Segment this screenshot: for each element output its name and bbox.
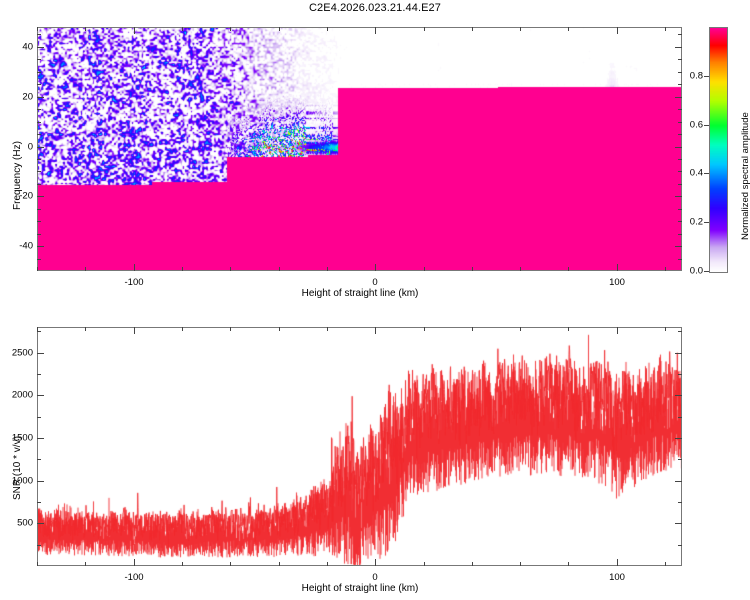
y-tick-label: 20 — [3, 92, 33, 103]
axis-tick — [134, 27, 135, 34]
axis-tick — [37, 545, 41, 546]
colorbar-title: Normalized spectral amplitude — [740, 112, 750, 240]
axis-tick — [472, 27, 473, 31]
x-tick-label: 100 — [609, 572, 625, 583]
axis-tick — [675, 523, 682, 524]
axis-tick — [134, 327, 135, 334]
axis-tick — [230, 267, 231, 271]
axis-tick — [472, 327, 473, 331]
axis-tick — [327, 562, 328, 566]
axis-tick — [375, 327, 376, 334]
axis-tick — [37, 196, 44, 197]
axis-tick — [678, 34, 682, 35]
axis-tick — [85, 327, 86, 331]
axis-tick — [327, 327, 328, 331]
figure-root: C2E4.2026.023.21.44.E27 -1000100-40-2002… — [0, 0, 750, 600]
axis-tick — [678, 459, 682, 460]
axis-tick — [675, 97, 682, 98]
axis-tick — [37, 134, 41, 135]
axis-tick — [678, 331, 682, 332]
y-tick-label: 2000 — [3, 390, 33, 401]
axis-tick — [37, 417, 41, 418]
colorbar-tick — [704, 125, 709, 126]
colorbar-tick-label: 0.6 — [675, 120, 703, 131]
colorbar-tick — [704, 222, 709, 223]
axis-tick — [37, 459, 41, 460]
spectrogram-x-axis-title: Height of straight line (km) — [302, 288, 419, 299]
axis-tick — [37, 395, 44, 396]
axis-tick — [37, 353, 44, 354]
axis-tick — [617, 327, 618, 334]
axis-tick — [665, 27, 666, 31]
axis-tick — [665, 327, 666, 331]
axis-tick — [678, 545, 682, 546]
axis-tick — [182, 27, 183, 31]
axis-tick — [678, 109, 682, 110]
x-tick-label: 0 — [372, 277, 377, 288]
axis-tick — [678, 259, 682, 260]
axis-tick — [37, 259, 41, 260]
axis-tick — [37, 246, 44, 247]
axis-tick — [424, 562, 425, 566]
axis-tick — [678, 417, 682, 418]
axis-tick — [37, 331, 41, 332]
axis-tick — [37, 147, 44, 148]
axis-tick — [37, 84, 41, 85]
axis-tick — [37, 234, 41, 235]
axis-tick — [375, 559, 376, 566]
axis-tick — [85, 562, 86, 566]
colorbar-tick-label: 0.4 — [675, 168, 703, 179]
axis-tick — [675, 196, 682, 197]
axis-tick — [37, 72, 41, 73]
x-tick-label: 100 — [609, 277, 625, 288]
axis-tick — [182, 267, 183, 271]
axis-tick — [568, 27, 569, 31]
axis-tick — [37, 438, 44, 439]
x-tick-label: 0 — [372, 572, 377, 583]
spectrogram-image — [38, 28, 682, 271]
axis-tick — [37, 209, 41, 210]
colorbar — [709, 27, 726, 271]
y-tick-label: 2500 — [3, 348, 33, 359]
axis-tick — [678, 59, 682, 60]
axis-tick — [230, 562, 231, 566]
axis-tick — [37, 159, 41, 160]
axis-tick — [665, 562, 666, 566]
colorbar-tick-label: 0.2 — [675, 217, 703, 228]
axis-tick — [37, 47, 44, 48]
axis-tick — [327, 27, 328, 31]
axis-tick — [568, 562, 569, 566]
axis-tick — [617, 264, 618, 271]
axis-tick — [568, 327, 569, 331]
axis-tick — [675, 438, 682, 439]
axis-tick — [37, 184, 41, 185]
axis-tick — [678, 502, 682, 503]
x-tick-label: -100 — [124, 277, 143, 288]
axis-tick — [520, 562, 521, 566]
axis-tick — [37, 481, 44, 482]
axis-tick — [37, 374, 41, 375]
snr-x-axis-title: Height of straight line (km) — [302, 583, 419, 594]
snr-trace — [38, 328, 682, 566]
axis-tick — [37, 562, 38, 566]
axis-tick — [424, 327, 425, 331]
axis-tick — [375, 27, 376, 34]
axis-tick — [617, 27, 618, 34]
axis-tick — [230, 327, 231, 331]
axis-tick — [279, 267, 280, 271]
axis-tick — [85, 27, 86, 31]
axis-tick — [617, 559, 618, 566]
axis-tick — [230, 27, 231, 31]
axis-tick — [375, 264, 376, 271]
axis-tick — [37, 27, 38, 31]
axis-tick — [37, 122, 41, 123]
axis-tick — [37, 109, 41, 110]
axis-tick — [678, 374, 682, 375]
axis-tick — [472, 267, 473, 271]
axis-tick — [675, 353, 682, 354]
y-tick-label: 500 — [3, 518, 33, 529]
axis-tick — [37, 502, 41, 503]
y-tick-label: -40 — [3, 241, 33, 252]
axis-tick — [134, 264, 135, 271]
axis-tick — [37, 59, 41, 60]
axis-tick — [678, 159, 682, 160]
axis-tick — [279, 27, 280, 31]
y-tick-label: 40 — [3, 42, 33, 53]
axis-tick — [675, 147, 682, 148]
axis-tick — [678, 234, 682, 235]
axis-tick — [424, 27, 425, 31]
axis-tick — [37, 221, 41, 222]
colorbar-gradient — [709, 27, 728, 273]
spectrogram-y-axis-title: Frequency (Hz) — [12, 141, 23, 210]
axis-tick — [472, 562, 473, 566]
axis-tick — [665, 267, 666, 271]
axis-tick — [279, 327, 280, 331]
x-tick-label: -100 — [124, 572, 143, 583]
axis-tick — [182, 327, 183, 331]
axis-tick — [675, 395, 682, 396]
axis-tick — [678, 134, 682, 135]
axis-tick — [37, 267, 38, 271]
axis-tick — [678, 209, 682, 210]
axis-tick — [678, 184, 682, 185]
axis-tick — [37, 171, 41, 172]
colorbar-tick — [704, 76, 709, 77]
axis-tick — [37, 34, 41, 35]
page-title: C2E4.2026.023.21.44.E27 — [0, 2, 750, 14]
axis-tick — [37, 97, 44, 98]
colorbar-tick-label: 0.8 — [675, 71, 703, 82]
axis-tick — [678, 84, 682, 85]
axis-tick — [182, 562, 183, 566]
axis-tick — [520, 27, 521, 31]
axis-tick — [520, 327, 521, 331]
colorbar-tick-label: 0.0 — [675, 266, 703, 277]
axis-tick — [85, 267, 86, 271]
snr-y-axis-title: SNR (10 * v/v) — [12, 436, 23, 500]
axis-tick — [675, 481, 682, 482]
axis-tick — [327, 267, 328, 271]
axis-tick — [520, 267, 521, 271]
axis-tick — [424, 267, 425, 271]
axis-tick — [37, 523, 44, 524]
axis-tick — [568, 267, 569, 271]
spectrogram-panel — [37, 27, 682, 271]
axis-tick — [279, 562, 280, 566]
axis-tick — [675, 246, 682, 247]
axis-tick — [134, 559, 135, 566]
colorbar-tick — [704, 271, 709, 272]
axis-tick — [675, 47, 682, 48]
snr-panel — [37, 327, 682, 566]
colorbar-tick — [704, 173, 709, 174]
